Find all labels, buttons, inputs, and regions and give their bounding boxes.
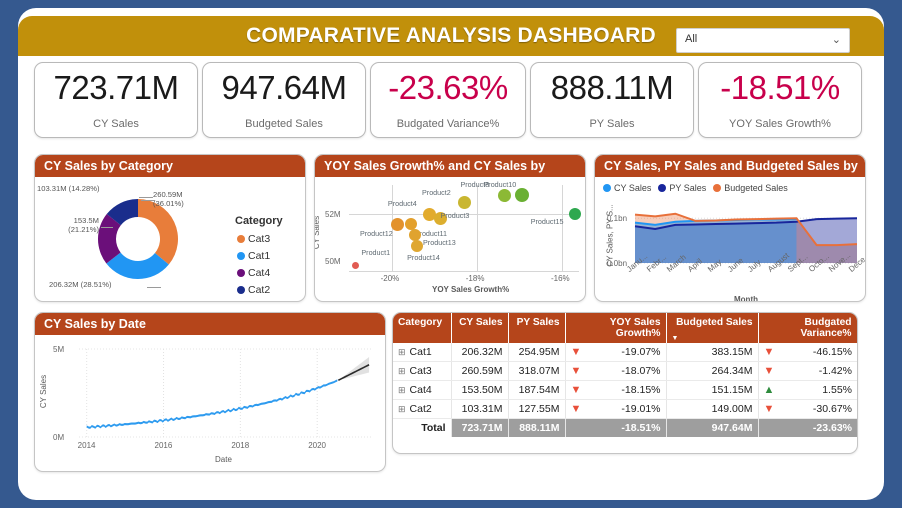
scatter-point-product12[interactable] xyxy=(391,218,404,231)
expand-icon[interactable]: ⊞ xyxy=(398,366,406,376)
trend-down-icon: ▼ xyxy=(571,384,582,396)
donut-leader-line xyxy=(147,287,161,288)
scatter-ytick: 50M xyxy=(325,257,341,266)
scatter-label-product14: Product14 xyxy=(407,253,440,262)
cell-py-sales: 318.07M xyxy=(508,362,565,381)
donut-label-cat3: 260.59M(36.01%) xyxy=(153,191,213,208)
scatter-point-product2[interactable] xyxy=(458,196,471,209)
cell-yoy-growth: ▼-18.15% xyxy=(565,381,666,400)
scatter-point-product14[interactable] xyxy=(411,240,423,252)
kpi-value: 888.11M xyxy=(531,69,693,107)
line-plot-area: 20142016201820200M5MDateCY Sales xyxy=(35,335,385,471)
panel-cy-sales-by-category: CY Sales by Category Category Cat3Cat1Ca… xyxy=(34,154,306,302)
table-header-cy-sales[interactable]: CY Sales xyxy=(451,313,508,343)
kpi-card-row: 723.71MCY Sales947.64MBudgeted Sales-23.… xyxy=(34,62,870,136)
donut-legend-item-cat4[interactable]: Cat4 xyxy=(237,267,270,279)
table-row[interactable]: ⊞Cat4153.50M187.54M▼-18.15%151.15M▲1.55% xyxy=(393,381,857,400)
cell-yoy-growth: ▼-18.07% xyxy=(565,362,666,381)
cell-budgeted-sales: 383.15M xyxy=(666,343,758,362)
cell-cy-sales: 103.31M xyxy=(451,400,508,419)
line-forecast-band xyxy=(338,357,369,380)
cell-budget-variance: ▼-46.15% xyxy=(758,343,857,362)
kpi-label: Budgeted Sales xyxy=(203,118,365,130)
line-chart-svg xyxy=(35,335,385,471)
scatter-xtick: -20% xyxy=(381,274,400,283)
panel-title-line: CY Sales by Date xyxy=(35,313,385,335)
expand-icon[interactable]: ⊞ xyxy=(398,404,406,414)
variance-value: 1.55% xyxy=(822,384,852,396)
area-chart-svg xyxy=(595,177,865,301)
trend-down-icon: ▼ xyxy=(764,346,775,358)
scatter-gridline-x xyxy=(477,185,478,271)
category-label: Cat1 xyxy=(410,346,432,358)
kpi-value: 947.64M xyxy=(203,69,365,107)
donut-label-cat2: 103.31M (14.28%) xyxy=(37,185,137,194)
table-header-label: PY Sales xyxy=(517,317,560,328)
trend-down-icon: ▼ xyxy=(571,346,582,358)
donut-label-cat1: 206.32M (28.51%) xyxy=(49,281,159,290)
kpi-label: CY Sales xyxy=(35,118,197,130)
total-budgeted-sales: 947.64M xyxy=(666,419,758,438)
yoy-value: -18.15% xyxy=(621,384,660,396)
scatter-axis-line xyxy=(349,271,579,272)
cell-category[interactable]: ⊞Cat1 xyxy=(393,343,451,362)
donut-leader-line xyxy=(101,227,113,228)
category-label: Cat4 xyxy=(410,384,432,396)
variance-value: -30.67% xyxy=(813,403,852,415)
donut-legend-title: Category xyxy=(235,215,283,227)
legend-label: Cat1 xyxy=(248,250,270,262)
table-header-label: YOY Sales Growth% xyxy=(610,317,661,339)
cell-budget-variance: ▼-1.42% xyxy=(758,362,857,381)
table-header-budgeted-sales[interactable]: Budgeted Sales▼ xyxy=(666,313,758,343)
scatter-label-product1: Product1 xyxy=(361,248,390,257)
expand-icon[interactable]: ⊞ xyxy=(398,347,406,357)
kpi-card-py-sales[interactable]: 888.11MPY Sales xyxy=(530,62,694,138)
cell-cy-sales: 153.50M xyxy=(451,381,508,400)
trend-down-icon: ▼ xyxy=(764,403,775,415)
area-x-axis-title: Month xyxy=(734,295,758,302)
line-x-axis-title: Date xyxy=(215,455,232,464)
panel-sales-by-month: CY Sales, PY Sales and Budgeted Sales by… xyxy=(594,154,866,302)
line-actual-series[interactable] xyxy=(87,379,338,428)
area-plot-area: CY SalesPY SalesBudgeted Sales 0.0bn0.1b… xyxy=(595,177,865,301)
table-header-row[interactable]: CategoryCY SalesPY SalesYOY Sales Growth… xyxy=(393,313,857,343)
cell-budgeted-sales: 151.15M xyxy=(666,381,758,400)
scatter-label-product4: Product4 xyxy=(388,199,417,208)
donut-leader-line xyxy=(141,200,155,201)
kpi-card-budgated-variance[interactable]: -23.63%Budgated Variance% xyxy=(370,62,526,138)
donut-leader-line xyxy=(139,197,153,198)
scatter-xtick: -16% xyxy=(551,274,570,283)
legend-label: Cat2 xyxy=(248,284,270,296)
trend-down-icon: ▼ xyxy=(571,403,582,415)
expand-icon[interactable]: ⊞ xyxy=(398,385,406,395)
scatter-point-product1[interactable] xyxy=(352,262,359,269)
table-header-label: Budgated Variance% xyxy=(801,317,852,339)
category-summary-table[interactable]: CategoryCY SalesPY SalesYOY Sales Growth… xyxy=(393,313,858,437)
legend-label: Cat4 xyxy=(248,267,270,279)
legend-color-dot xyxy=(237,235,245,243)
scatter-point-product8[interactable] xyxy=(498,189,511,202)
table-header-yoy-sales-growth[interactable]: YOY Sales Growth% xyxy=(565,313,666,343)
scatter-point-product10[interactable] xyxy=(515,188,529,202)
cell-cy-sales: 206.32M xyxy=(451,343,508,362)
legend-color-dot xyxy=(237,269,245,277)
sort-descending-icon: ▼ xyxy=(672,335,679,342)
scatter-label-product2: Product2 xyxy=(422,188,451,197)
panel-title-scatter: YOY Sales Growth% and CY Sales by Produc… xyxy=(315,155,585,177)
cell-py-sales: 187.54M xyxy=(508,381,565,400)
line-chart[interactable]: 20142016201820200M5MDateCY Sales xyxy=(35,335,385,471)
kpi-card-yoy-sales-growth[interactable]: -18.51%YOY Sales Growth% xyxy=(698,62,862,138)
scatter-gridline-x xyxy=(562,185,563,271)
table-body: ⊞Cat1206.32M254.95M▼-19.07%383.15M▼-46.1… xyxy=(393,343,857,437)
table-header-category[interactable]: Category xyxy=(393,313,451,343)
kpi-label: Budgated Variance% xyxy=(371,118,525,130)
kpi-label: YOY Sales Growth% xyxy=(699,118,861,130)
cell-budget-variance: ▲1.55% xyxy=(758,381,857,400)
line-y-axis-title: CY Sales xyxy=(39,375,48,408)
cell-budgeted-sales: 264.34M xyxy=(666,362,758,381)
scatter-label-product15: Product15 xyxy=(531,217,564,226)
trend-down-icon: ▼ xyxy=(764,365,775,377)
category-slicer-dropdown[interactable]: All ⌄ xyxy=(676,28,850,53)
cell-budgeted-sales: 149.00M xyxy=(666,400,758,419)
donut-plot-area: Category Cat3Cat1Cat4Cat2 260.59M(36.01%… xyxy=(35,177,305,301)
donut-label-cat4: 153.5M(21.21%) xyxy=(43,217,99,234)
kpi-card-budgeted-sales[interactable]: 947.64MBudgeted Sales xyxy=(202,62,366,138)
total-budget-variance: -23.63% xyxy=(758,419,857,438)
scatter-label-product10: Product10 xyxy=(484,180,517,189)
cell-category[interactable]: ⊞Cat3 xyxy=(393,362,451,381)
scatter-point-product15[interactable] xyxy=(569,208,581,220)
cell-cy-sales: 260.59M xyxy=(451,362,508,381)
cell-yoy-growth: ▼-19.07% xyxy=(565,343,666,362)
table-header-label: Category xyxy=(398,317,442,328)
cell-yoy-growth: ▼-19.01% xyxy=(565,400,666,419)
donut-legend-item-cat3[interactable]: Cat3 xyxy=(237,233,270,245)
table-row[interactable]: ⊞Cat1206.32M254.95M▼-19.07%383.15M▼-46.1… xyxy=(393,343,857,362)
table-header-label: CY Sales xyxy=(459,317,502,328)
table-header-py-sales[interactable]: PY Sales xyxy=(508,313,565,343)
legend-color-dot xyxy=(237,252,245,260)
donut-legend-item-cat2[interactable]: Cat2 xyxy=(237,284,270,296)
legend-label: Cat3 xyxy=(248,233,270,245)
chevron-down-icon: ⌄ xyxy=(832,33,841,46)
table-header-budgated-variance[interactable]: Budgated Variance% xyxy=(758,313,857,343)
table-total-row: Total723.71M888.11M-18.51%947.64M-23.63% xyxy=(393,419,857,438)
area-chart[interactable]: 0.0bn0.1bnJanu...Febr...MarchAprilMayJun… xyxy=(595,177,865,301)
yoy-value: -18.07% xyxy=(621,365,660,377)
variance-value: -1.42% xyxy=(819,365,852,377)
scatter-x-axis-title: YOY Sales Growth% xyxy=(432,285,509,294)
table-header-label: Budgeted Sales xyxy=(676,317,752,328)
scatter-plot-area: -20%-18%-16%50M52MProduct1Product12Produ… xyxy=(315,177,585,301)
kpi-label: PY Sales xyxy=(531,118,693,130)
scatter-label-product3: Product3 xyxy=(441,211,470,220)
kpi-value: -18.51% xyxy=(699,69,861,107)
scatter-label-product13: Product13 xyxy=(423,238,456,247)
trend-down-icon: ▼ xyxy=(571,365,582,377)
trend-up-icon: ▲ xyxy=(764,384,775,396)
kpi-value: 723.71M xyxy=(35,69,197,107)
yoy-value: -19.07% xyxy=(621,346,660,358)
panel-cy-sales-by-date: CY Sales by Date 20142016201820200M5MDat… xyxy=(34,312,386,472)
yoy-value: -19.01% xyxy=(621,403,660,415)
total-yoy-growth: -18.51% xyxy=(565,419,666,438)
table-row[interactable]: ⊞Cat3260.59M318.07M▼-18.07%264.34M▼-1.42… xyxy=(393,362,857,381)
cell-py-sales: 254.95M xyxy=(508,343,565,362)
scatter-label-product12: Product12 xyxy=(360,229,393,238)
area-y-axis-title: CY Sales, PY S... xyxy=(606,204,615,266)
slicer-selected-value: All xyxy=(685,33,697,45)
total-py-sales: 888.11M xyxy=(508,419,565,438)
cell-budget-variance: ▼-30.67% xyxy=(758,400,857,419)
total-cy-sales: 723.71M xyxy=(451,419,508,438)
kpi-card-cy-sales[interactable]: 723.71MCY Sales xyxy=(34,62,198,138)
scatter-ytick: 52M xyxy=(325,210,341,219)
table-row[interactable]: ⊞Cat2103.31M127.55M▼-19.01%149.00M▼-30.6… xyxy=(393,400,857,419)
cell-category[interactable]: ⊞Cat4 xyxy=(393,381,451,400)
variance-value: -46.15% xyxy=(813,346,852,358)
scatter-chart[interactable]: -20%-18%-16%50M52MProduct1Product12Produ… xyxy=(315,177,585,301)
category-label: Cat2 xyxy=(410,403,432,415)
donut-legend-item-cat1[interactable]: Cat1 xyxy=(237,250,270,262)
scatter-xtick: -18% xyxy=(466,274,485,283)
legend-color-dot xyxy=(237,286,245,294)
panel-title-donut: CY Sales by Category xyxy=(35,155,305,177)
panel-title-area: CY Sales, PY Sales and Budgeted Sales by… xyxy=(595,155,865,177)
cell-category[interactable]: ⊞Cat2 xyxy=(393,400,451,419)
category-label: Cat3 xyxy=(410,365,432,377)
scatter-y-axis-title: CY Sales xyxy=(314,216,321,249)
donut-slice-cat3[interactable] xyxy=(138,199,178,265)
kpi-value: -23.63% xyxy=(371,69,525,107)
total-label: Total xyxy=(393,419,451,438)
panel-category-table: CategoryCY SalesPY SalesYOY Sales Growth… xyxy=(392,312,858,454)
panel-yoy-growth-by-product: YOY Sales Growth% and CY Sales by Produc… xyxy=(314,154,586,302)
cell-py-sales: 127.55M xyxy=(508,400,565,419)
